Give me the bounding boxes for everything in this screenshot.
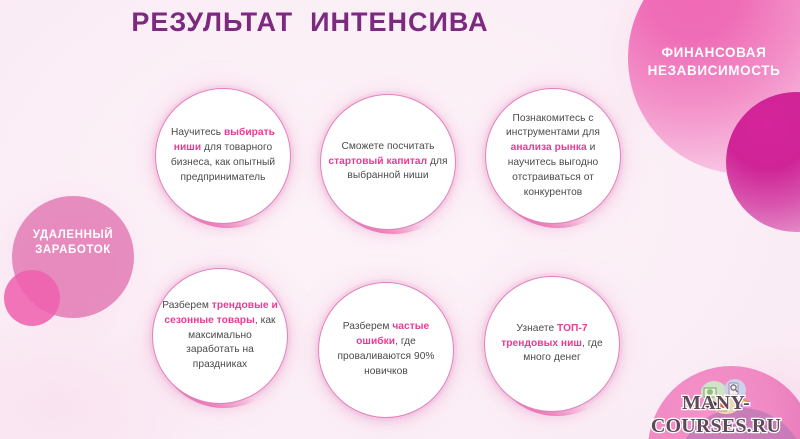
benefit-circle-5-text: Разберем частые ошибки, где проваливаютс… [326,320,446,379]
badge-financial-independence-line2: НЕЗАВИСИМОСТЬ [628,62,800,80]
watermark-text: MANY-COURSES.RU [632,392,800,438]
badge-financial-independence-line1: ФИНАНСОВАЯ [628,44,800,62]
benefit-circle-4-text: Разберем трендовые и сезонные товары, ка… [160,299,280,373]
slide-canvas: ФИНАНСОВАЯ НЕЗАВИСИМОСТЬ УДАЛЕННЫЙ ЗАРАБ… [0,0,800,439]
background-halo-left [0,172,160,348]
benefit-circle-5: Разберем частые ошибки, где проваливаютс… [318,282,454,418]
benefit-circle-2: Сможете посчитать стартовый капитал для … [320,94,456,230]
benefit-circle-1-text: Научитесь выбирать ниши для товарного би… [163,126,283,185]
bubble-accent-magenta-left [4,270,60,326]
benefit-circle-1: Научитесь выбирать ниши для товарного би… [155,88,291,224]
badge-financial-independence: ФИНАНСОВАЯ НЕЗАВИСИМОСТЬ [628,44,800,80]
benefit-circle-4: Разберем трендовые и сезонные товары, ка… [152,268,288,404]
benefit-circle-2-text: Сможете посчитать стартовый капитал для … [328,140,448,184]
bubble-financial-independence [628,0,800,174]
badge-remote-earnings: УДАЛЕННЫЙ ЗАРАБОТОК [10,228,136,258]
benefit-circle-3: Познакомитесь с инструментами для анализ… [485,88,621,224]
benefit-circle-6: Узнаете ТОП-7 трендовых ниш, где много д… [484,276,620,412]
badge-remote-earnings-line2: ЗАРАБОТОК [10,243,136,258]
benefit-circle-6-text: Узнаете ТОП-7 трендовых ниш, где много д… [492,322,612,366]
bubble-accent-magenta-top-right [726,92,800,232]
benefit-circle-3-text: Познакомитесь с инструментами для анализ… [493,112,613,201]
page-title: РЕЗУЛЬТАТ ИНТЕНСИВА [0,7,620,38]
badge-remote-earnings-line1: УДАЛЕННЫЙ [10,228,136,243]
